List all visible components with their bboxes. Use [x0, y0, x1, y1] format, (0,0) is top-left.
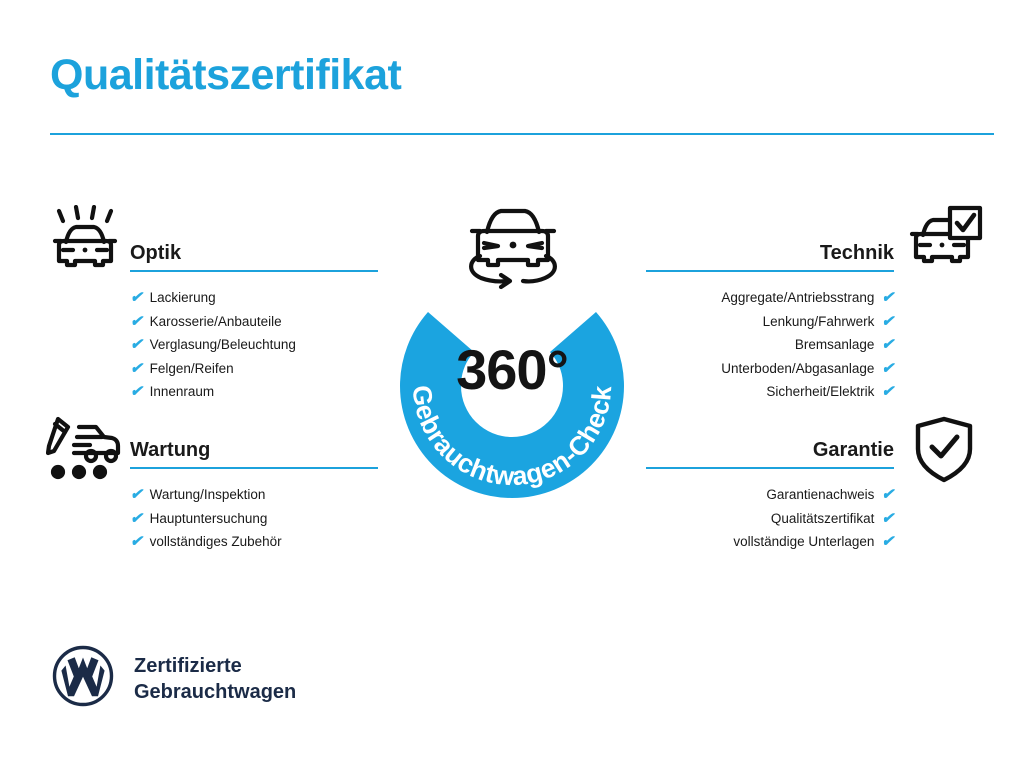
list-item-label: Garantienachweis [766, 483, 874, 507]
vw-logo-block: Zertifizierte Gebrauchtwagen [52, 645, 296, 712]
list-item: ✔ Hauptuntersuchung [130, 507, 430, 531]
car-service-pencil-icon [46, 415, 128, 486]
vw-wordmark-line2: Gebrauchtwagen [134, 679, 296, 705]
check-icon: ✔ [881, 361, 894, 376]
title-divider [50, 133, 994, 135]
list-item-label: Bremsanlage [795, 333, 875, 357]
list-item-label: Karosserie/Anbauteile [150, 310, 282, 334]
check-icon: ✔ [130, 511, 143, 526]
list-item-label: vollständige Unterlagen [733, 530, 874, 554]
check-icon: ✔ [881, 337, 894, 352]
section-divider-optik [130, 270, 378, 272]
check-icon: ✔ [881, 384, 894, 399]
check-icon: ✔ [130, 487, 143, 502]
list-item-label: Verglasung/Beleuchtung [150, 333, 296, 357]
check-icon: ✔ [130, 361, 143, 376]
list-item-label: Wartung/Inspektion [150, 483, 266, 507]
check-icon: ✔ [130, 337, 143, 352]
list-item-label: Sicherheit/Elektrik [766, 380, 874, 404]
check-icon: ✔ [881, 534, 894, 549]
list-item-label: Felgen/Reifen [150, 357, 234, 381]
list-item-label: Innenraum [150, 380, 215, 404]
list-item-label: Lackierung [150, 286, 216, 310]
vw-roundel-logo [52, 645, 114, 712]
list-item-label: Unterboden/Abgasanlage [721, 357, 874, 381]
check-icon: ✔ [881, 314, 894, 329]
list-item: vollständige Unterlagen ✔ [594, 530, 894, 554]
check-icon: ✔ [130, 314, 143, 329]
page-title: Qualitätszertifikat [50, 52, 401, 99]
list-item-label: Aggregate/Antriebsstrang [721, 286, 874, 310]
section-divider-garantie [646, 467, 894, 469]
badge-360-check: Gebrauchtwagen-Check 360° [371, 200, 653, 500]
check-icon: ✔ [130, 290, 143, 305]
check-icon: ✔ [130, 534, 143, 549]
list-item-label: Hauptuntersuchung [150, 507, 268, 531]
check-icon: ✔ [130, 384, 143, 399]
check-icon: ✔ [881, 290, 894, 305]
car-shine-icon [46, 205, 122, 280]
list-item: ✔ vollständiges Zubehör [130, 530, 430, 554]
check-icon: ✔ [881, 511, 894, 526]
list-item-label: Lenkung/Fahrwerk [763, 310, 875, 334]
vw-wordmark-line1: Zertifizierte [134, 653, 296, 679]
check-icon: ✔ [881, 487, 894, 502]
section-divider-technik [646, 270, 894, 272]
list-item: Qualitätszertifikat ✔ [594, 507, 894, 531]
vw-wordmark: Zertifizierte Gebrauchtwagen [134, 653, 296, 705]
car-checkbox-icon [906, 205, 984, 280]
badge-value: 360° [371, 340, 653, 400]
shield-check-icon [912, 415, 976, 490]
section-divider-wartung [130, 467, 378, 469]
list-item-label: vollständiges Zubehör [150, 530, 282, 554]
list-item-label: Qualitätszertifikat [771, 507, 875, 531]
